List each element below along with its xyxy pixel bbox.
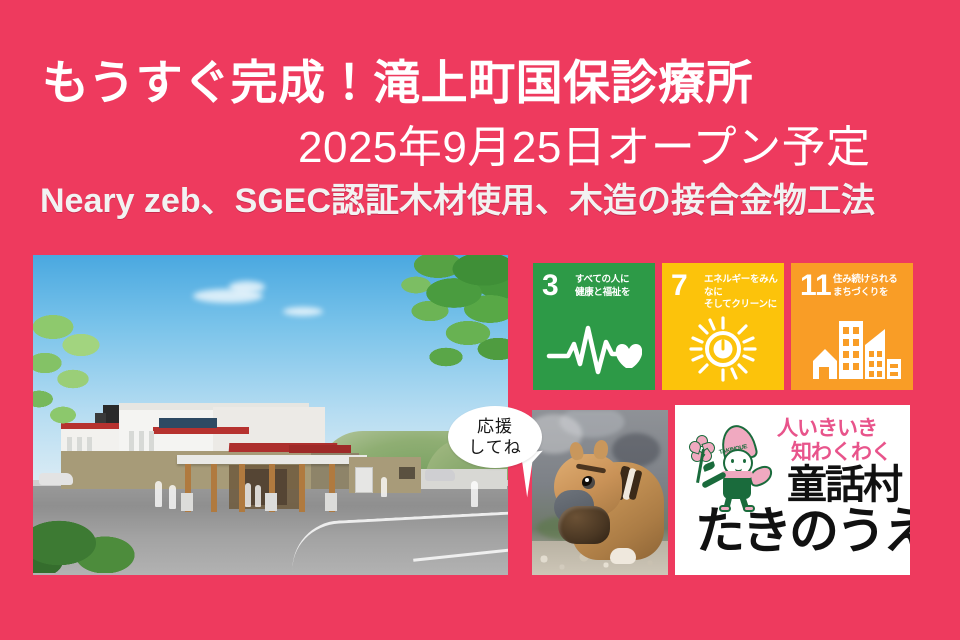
car	[425, 469, 455, 481]
chipmunk-photo	[532, 410, 668, 575]
building-red-band	[153, 427, 249, 434]
person-silhouette	[471, 481, 478, 507]
sdg-badge-7: 7 エネルギーをみんなにそしてクリーンに	[662, 263, 784, 390]
flower-leaf	[702, 461, 716, 472]
nut-held	[558, 506, 610, 544]
person-silhouette	[255, 485, 261, 507]
sdg-number: 11	[800, 271, 832, 301]
logo-tagline-line1: 人いきいき	[777, 417, 877, 440]
shrub	[33, 503, 145, 573]
sdg-number: 3	[542, 271, 559, 301]
speech-bubble-text: 応援してね	[448, 416, 542, 458]
sdg-number: 7	[671, 271, 688, 301]
sdg-title: 住み続けられるまちづくりを	[833, 274, 897, 299]
side-entrance-door	[355, 467, 373, 493]
poster-canvas: もうすぐ完成！滝上町国保診療所 2025年9月25日オープン予定 Neary z…	[0, 0, 960, 640]
person-silhouette	[155, 481, 162, 507]
wood-column	[211, 464, 217, 512]
column-base	[325, 493, 337, 511]
sdg-badge-11: 11 住み続けられるまちづくりを	[791, 263, 913, 390]
page-title: もうすぐ完成！滝上町国保診療所	[42, 58, 753, 108]
wood-column	[299, 464, 305, 512]
person-silhouette	[245, 483, 251, 507]
sdg-badge-row: 3 すべての人に健康と福祉を 7 エネルギーをみんなにそしてクリーンに	[533, 263, 913, 390]
person-silhouette	[169, 485, 176, 509]
window	[149, 431, 154, 451]
clerestory-window	[159, 418, 217, 428]
opening-date-line: 2025年9月25日オープン予定	[298, 124, 871, 172]
feature-subtitle: Neary zeb、SGEC認証木材使用、木造の接合金物工法	[40, 182, 875, 220]
tree-foliage	[334, 255, 508, 399]
column-base	[181, 493, 193, 511]
town-logo: TAKINOUE 人いきいき 知わくわく 童話村 たきのうえ	[675, 405, 910, 575]
cloud-icon	[229, 281, 265, 293]
entrance-canopy	[177, 455, 367, 464]
fairy-eye	[731, 459, 734, 463]
logo-doowamura: 童話村	[787, 463, 901, 507]
speech-bubble: 応援してね	[448, 406, 542, 468]
heartbeat-heart-icon	[533, 316, 655, 382]
cloud-icon	[283, 307, 323, 316]
fairy-eye	[743, 459, 746, 463]
window	[399, 467, 415, 479]
window	[139, 431, 144, 451]
building-rendering-image	[33, 255, 508, 575]
sdg-title: エネルギーをみんなにそしてクリーンに	[704, 274, 784, 312]
takinoue-fairy-mascot-icon: TAKINOUE	[693, 423, 779, 507]
entrance-red-roof	[289, 445, 351, 453]
logo-tagline-line2: 知わくわく	[791, 441, 891, 464]
logo-takinoue: たきのうえ	[695, 503, 910, 559]
chipmunk-eye-highlight	[585, 478, 589, 482]
column-base	[265, 493, 277, 511]
person-silhouette	[381, 477, 387, 497]
chipmunk-paw	[610, 548, 636, 564]
sdg-badge-3: 3 すべての人に健康と福祉を	[533, 263, 655, 390]
sun-power-icon	[662, 316, 784, 382]
town-logo-inner: TAKINOUE 人いきいき 知わくわく 童話村 たきのうえ	[681, 411, 904, 569]
sdg-title: すべての人に健康と福祉を	[575, 274, 630, 299]
city-buildings-icon	[791, 316, 913, 382]
tree-foliage	[33, 311, 139, 501]
